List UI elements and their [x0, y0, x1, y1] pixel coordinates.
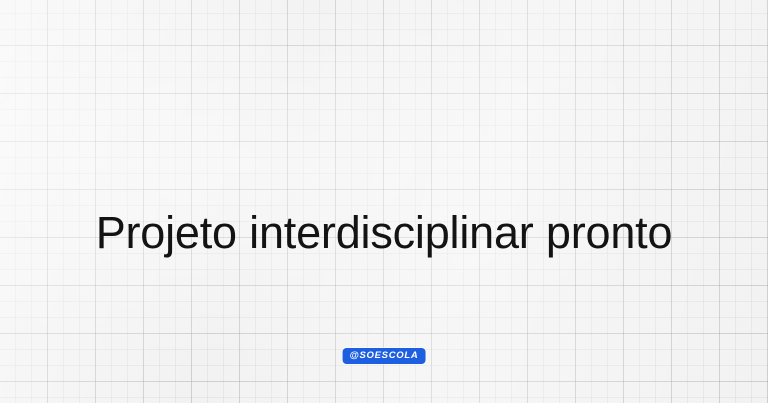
grid-paper-background — [0, 0, 768, 403]
watermark-handle-label: @SOESCOLA — [350, 351, 419, 361]
slide-canvas: Projeto interdisciplinar pronto @SOESCOL… — [0, 0, 768, 403]
page-title: Projeto interdisciplinar pronto — [0, 205, 768, 261]
watermark-badge: @SOESCOLA — [343, 348, 426, 364]
